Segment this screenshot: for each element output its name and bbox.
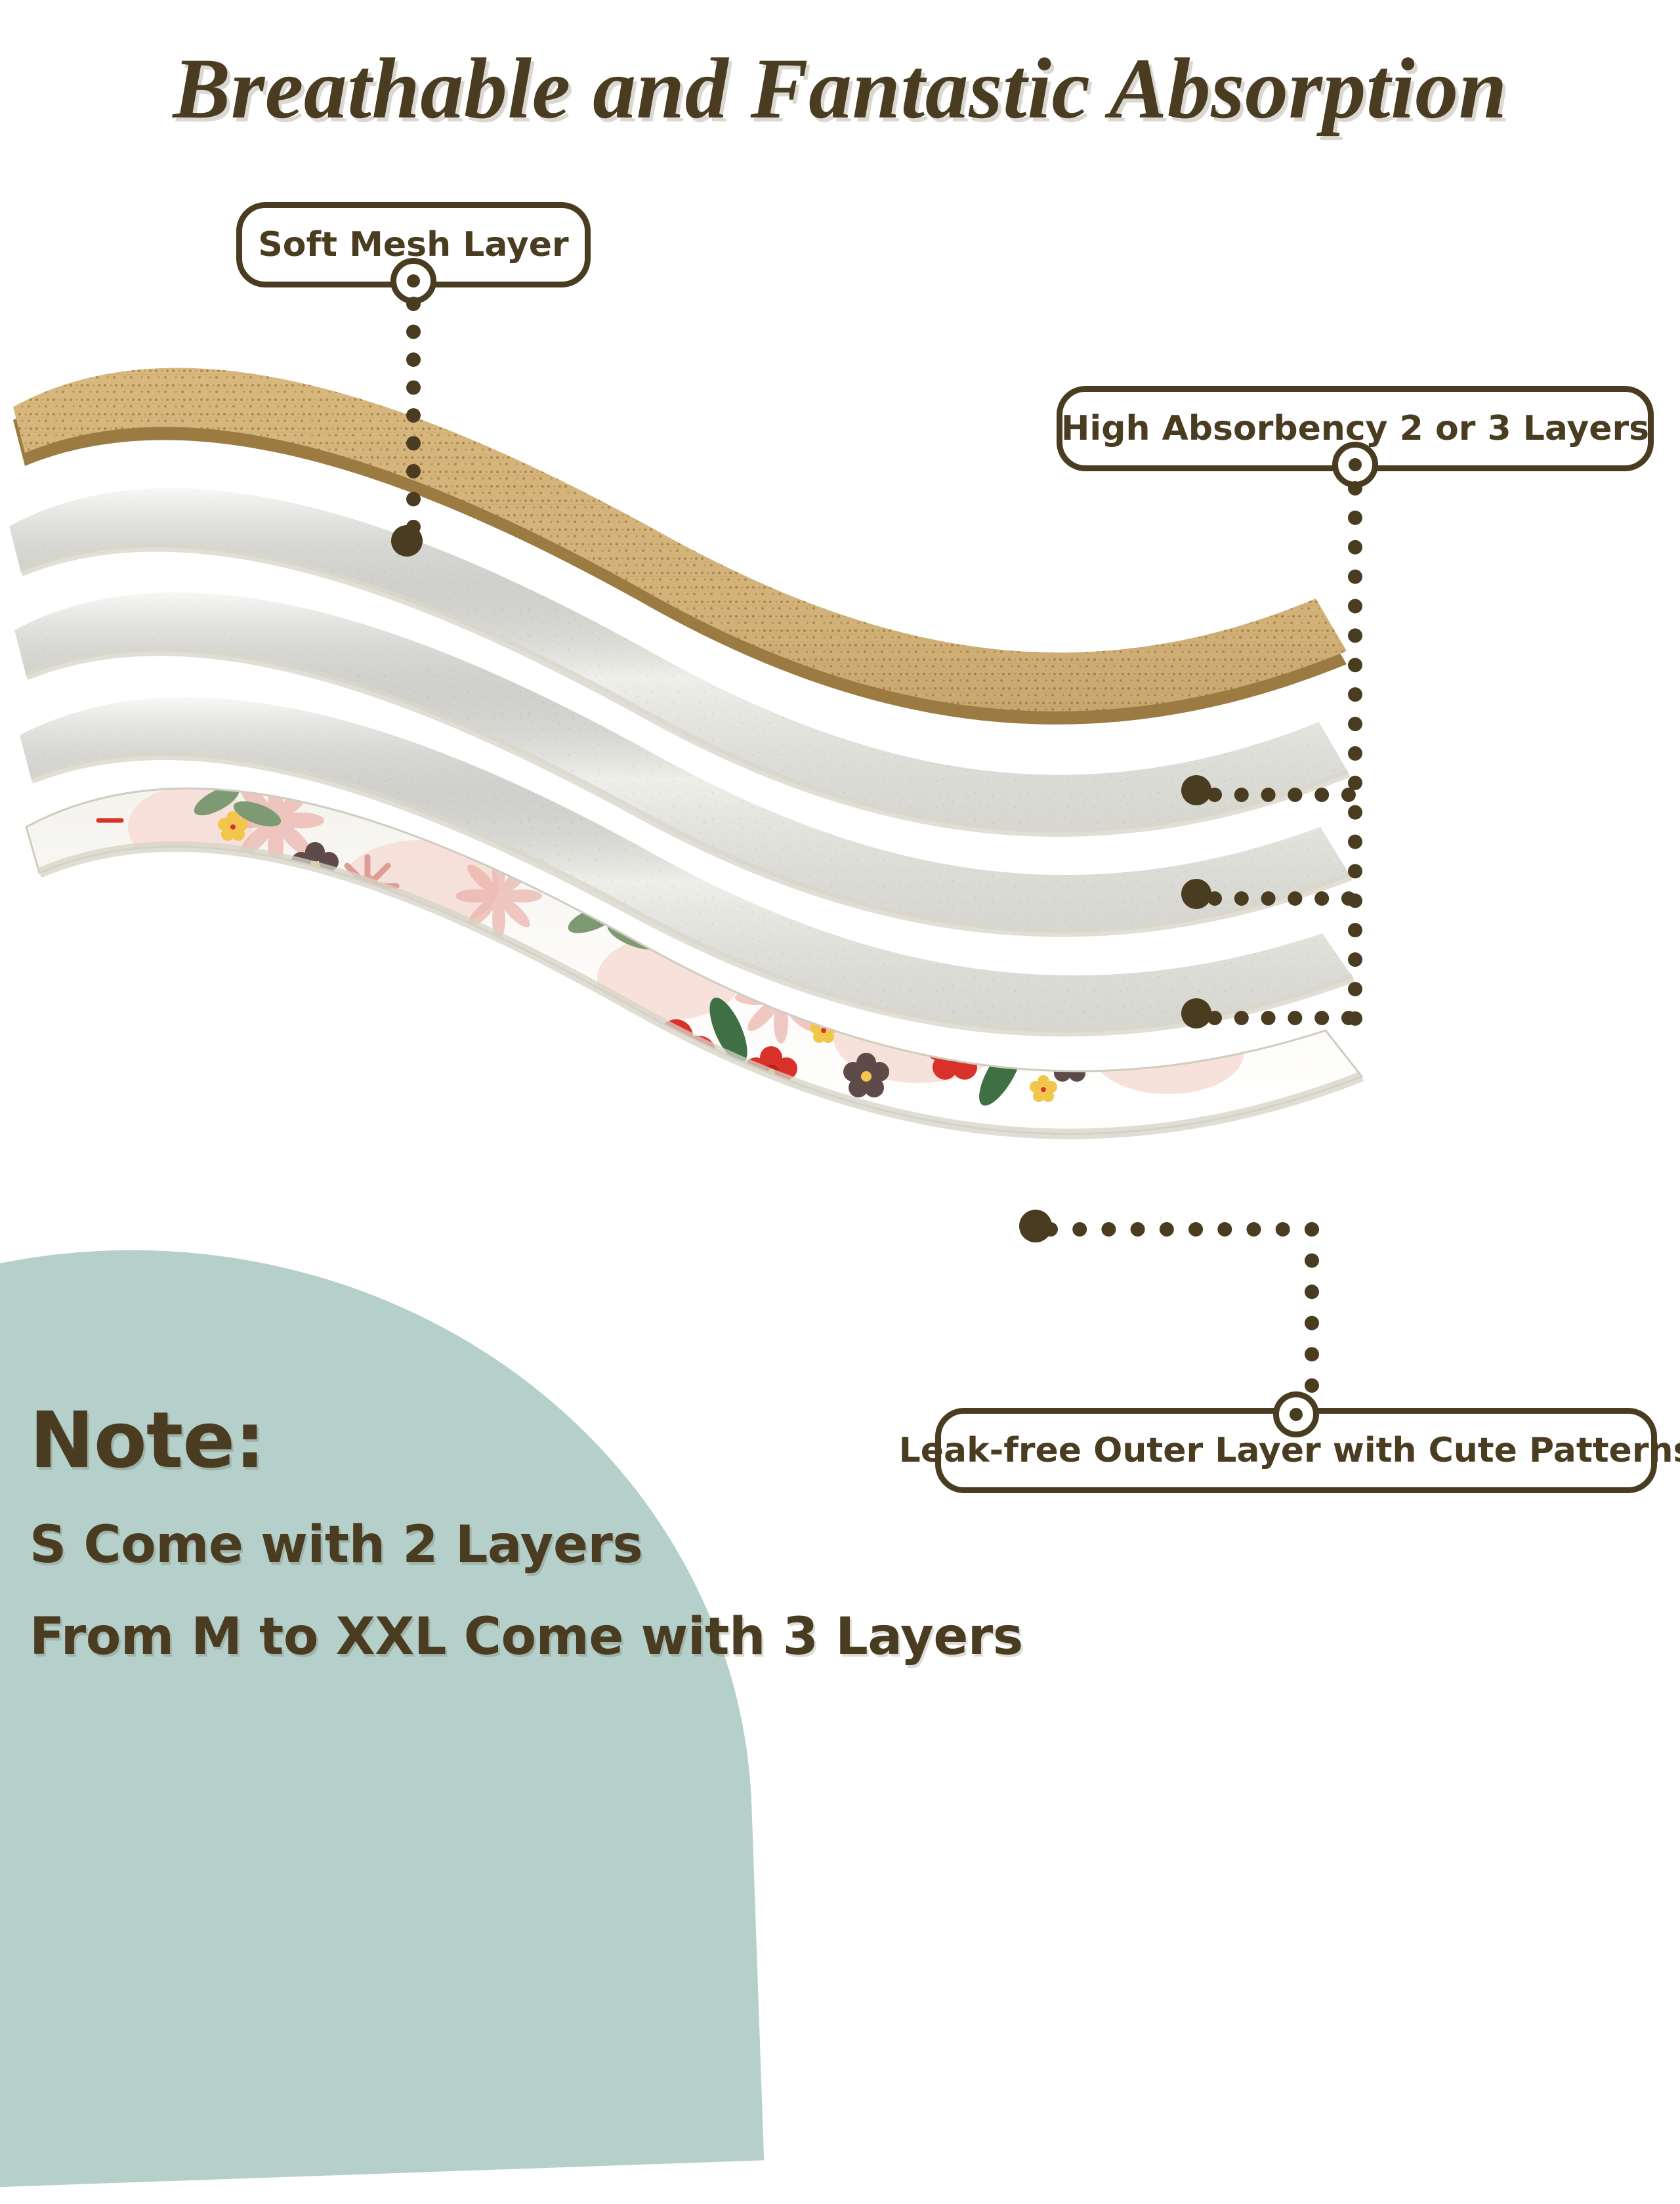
infographic-canvas: Breathable and Fantastic Absorption xyxy=(0,0,1680,1680)
leader-endpoint-soft-mesh xyxy=(391,525,423,557)
leader-branch-absorbent-3 xyxy=(1207,1011,1356,1040)
leader-endpoint-absorbent-1 xyxy=(1181,775,1211,805)
leader-endpoint-absorbent-3 xyxy=(1181,998,1211,1028)
callout-anchor-ring xyxy=(1273,1391,1319,1437)
note-background-shape xyxy=(0,1229,764,2203)
note-block: Note: S Come with 2 Layers From M to XXL… xyxy=(30,1401,1053,1663)
layer-stack-illustration xyxy=(0,368,1463,1339)
page-title: Breathable and Fantastic Absorption xyxy=(0,38,1680,138)
leader-line-absorbency-trunk xyxy=(1348,481,1377,1026)
callout-high-absorbency[interactable]: High Absorbency 2 or 3 Layers xyxy=(1057,386,1654,471)
leader-endpoint-absorbent-2 xyxy=(1181,879,1211,909)
leader-branch-absorbent-1 xyxy=(1207,788,1356,816)
note-heading: Note: xyxy=(30,1401,1053,1479)
leader-line-soft-mesh xyxy=(406,297,435,534)
leader-line-leak-free-vertical xyxy=(1305,1222,1333,1393)
leader-line-leak-free-horizontal xyxy=(1043,1222,1319,1251)
note-line-2: From M to XXL Come with 3 Layers xyxy=(30,1611,1053,1663)
note-line-1: S Come with 2 Layers xyxy=(30,1519,1053,1571)
callout-soft-mesh[interactable]: Soft Mesh Layer xyxy=(236,202,591,287)
leader-endpoint-leak-free xyxy=(1019,1210,1052,1242)
leader-branch-absorbent-2 xyxy=(1207,891,1356,920)
